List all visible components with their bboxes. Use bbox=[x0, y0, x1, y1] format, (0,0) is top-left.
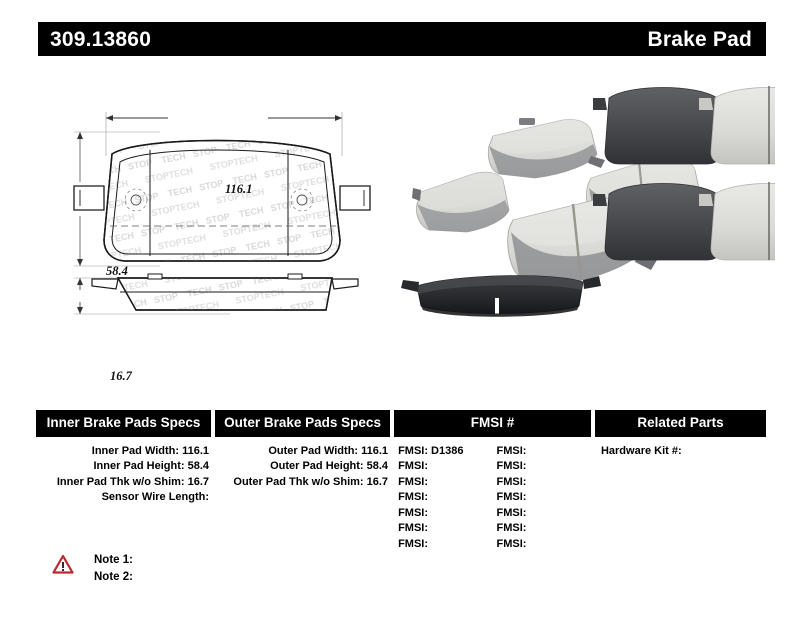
fmsi-row: FMSI: D1386 bbox=[398, 444, 492, 460]
note-line-2: Note 2: bbox=[94, 569, 133, 586]
fmsi-row: FMSI: bbox=[398, 490, 492, 506]
header-bar: 309.13860 Brake Pad bbox=[38, 22, 766, 56]
fmsi-subcolumn-left: FMSI: D1386 FMSI: FMSI: FMSI: FMSI: FMSI… bbox=[394, 444, 492, 553]
photo-group-side bbox=[401, 276, 601, 317]
part-number: 309.13860 bbox=[50, 29, 151, 50]
dimension-thickness-label: 16.7 bbox=[110, 369, 132, 384]
fmsi-subcolumn-right: FMSI: FMSI: FMSI: FMSI: FMSI: FMSI: FMSI… bbox=[493, 444, 591, 553]
fmsi-row: FMSI: bbox=[497, 444, 591, 460]
product-photos bbox=[395, 70, 775, 360]
spec-table: Inner Brake Pads Specs Outer Brake Pads … bbox=[36, 410, 766, 552]
notes-section: Note 1: Note 2: bbox=[52, 552, 133, 586]
spec-row: Outer Pad Thk w/o Shim: 16.7 bbox=[215, 475, 390, 491]
spec-row: Sensor Wire Length: bbox=[36, 490, 211, 506]
fmsi-row: FMSI: bbox=[398, 506, 492, 522]
notes-text: Note 1: Note 2: bbox=[94, 552, 133, 586]
fmsi-row: FMSI: bbox=[398, 459, 492, 475]
fmsi-row: FMSI: bbox=[398, 537, 492, 553]
spec-row: Outer Pad Height: 58.4 bbox=[215, 459, 390, 475]
technical-drawing: STOP TECH STOPTECH bbox=[40, 70, 400, 360]
table-header-row: Inner Brake Pads Specs Outer Brake Pads … bbox=[36, 410, 766, 437]
dimension-width-label: 116.1 bbox=[225, 182, 252, 197]
fmsi-row: FMSI: bbox=[497, 521, 591, 537]
inner-specs-column: Inner Pad Width: 116.1 Inner Pad Height:… bbox=[36, 444, 211, 553]
related-parts-column: Hardware Kit #: bbox=[595, 444, 766, 553]
column-header-related-parts: Related Parts bbox=[595, 410, 766, 437]
fmsi-row: FMSI: bbox=[497, 537, 591, 553]
spec-row: Outer Pad Width: 116.1 bbox=[215, 444, 390, 460]
spec-row: Inner Pad Width: 116.1 bbox=[36, 444, 211, 460]
warning-triangle-icon bbox=[52, 554, 74, 574]
fmsi-row: FMSI: bbox=[398, 475, 492, 491]
fmsi-row: FMSI: bbox=[497, 459, 591, 475]
column-header-outer-specs: Outer Brake Pads Specs bbox=[215, 410, 390, 437]
fmsi-row: FMSI: bbox=[497, 475, 591, 491]
fmsi-column: FMSI: D1386 FMSI: FMSI: FMSI: FMSI: FMSI… bbox=[394, 444, 591, 553]
brake-pad-photographs bbox=[395, 70, 775, 360]
spec-row: Inner Pad Thk w/o Shim: 16.7 bbox=[36, 475, 211, 491]
dimension-height-label: 58.4 bbox=[106, 264, 128, 279]
brake-pad-line-drawing: STOP TECH STOPTECH bbox=[40, 70, 400, 360]
spec-row: Inner Pad Height: 58.4 bbox=[36, 459, 211, 475]
fmsi-row: FMSI: bbox=[497, 490, 591, 506]
fmsi-row: FMSI: bbox=[398, 521, 492, 537]
page-title: Brake Pad bbox=[647, 29, 752, 50]
outer-specs-column: Outer Pad Width: 116.1 Outer Pad Height:… bbox=[215, 444, 390, 553]
note-line-1: Note 1: bbox=[94, 552, 133, 569]
column-header-inner-specs: Inner Brake Pads Specs bbox=[36, 410, 211, 437]
related-part-row: Hardware Kit #: bbox=[595, 444, 766, 460]
column-header-fmsi: FMSI # bbox=[394, 410, 591, 437]
table-body: Inner Pad Width: 116.1 Inner Pad Height:… bbox=[36, 437, 766, 553]
fmsi-row: FMSI: bbox=[497, 506, 591, 522]
